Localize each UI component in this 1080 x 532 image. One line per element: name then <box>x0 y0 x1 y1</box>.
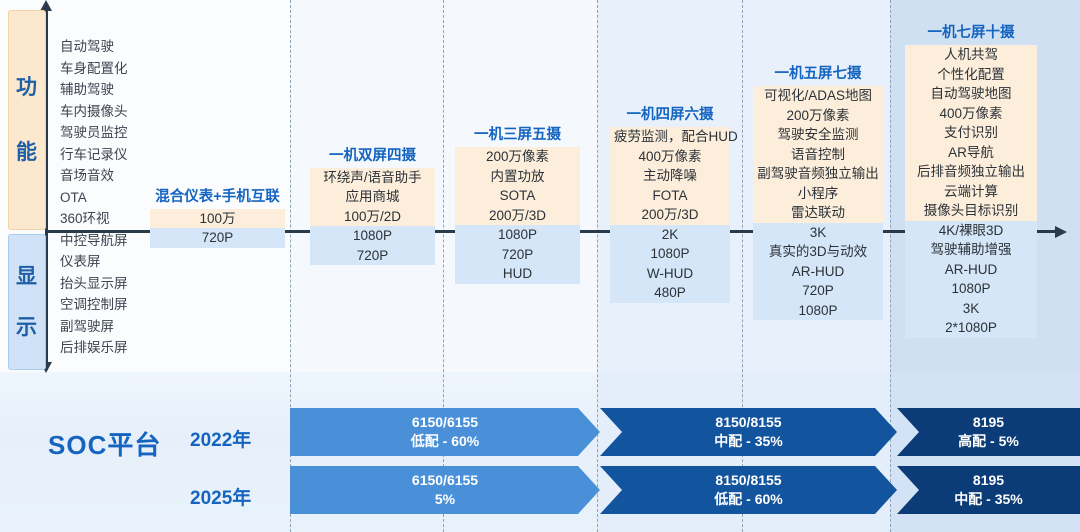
spec-group-title: 混合仪表+手机互联 <box>150 185 285 206</box>
category-chip-function: 功 能 <box>8 10 46 230</box>
function-item: 后排音频独立输出 <box>905 162 1037 182</box>
row-label: 仪表屏 <box>60 251 160 273</box>
infographic-root: 功 能 显 示 自动驾驶车身配置化辅助驾驶车内摄像头驾驶员监控行车记录仪音场音效… <box>0 0 1080 532</box>
display-item: W-HUD <box>610 264 730 284</box>
display-block: 2K1080PW-HUD480P <box>610 225 730 303</box>
soc-segment[interactable]: 8195中配 - 35% <box>897 466 1080 514</box>
function-item: 疲劳监测，配合HUD <box>610 127 730 147</box>
soc-tier-label: 高配 - 5% <box>958 433 1019 451</box>
soc-chip-label: 6150/6155 <box>412 414 478 432</box>
soc-chip-label: 8150/8155 <box>715 414 781 432</box>
horizontal-axis-arrow-icon <box>1055 226 1067 238</box>
soc-chip-label: 6150/6155 <box>412 472 478 490</box>
soc-year-2022: 2022年 <box>190 425 251 452</box>
soc-segment[interactable]: 6150/6155低配 - 60% <box>290 408 600 456</box>
display-block: 1080P720P <box>310 226 435 265</box>
display-item: 4K/裸眼3D <box>905 221 1037 241</box>
row-label-list: 自动驾驶车身配置化辅助驾驶车内摄像头驾驶员监控行车记录仪音场音效OTA360环视… <box>60 36 160 359</box>
function-item: 人机共驾 <box>905 45 1037 65</box>
category-display-char1: 显 <box>16 266 38 287</box>
function-block: 100万 <box>150 209 285 229</box>
spec-group-2: 一机双屏四摄环绕声/语音助手应用商城100万/2D1080P720P <box>310 144 435 266</box>
category-chip-display: 显 示 <box>8 234 46 370</box>
function-item: 驾驶安全监测 <box>753 125 883 145</box>
display-item: 1080P <box>610 244 730 264</box>
display-block: 720P <box>150 228 285 248</box>
function-item: 环绕声/语音助手 <box>310 168 435 188</box>
function-item: 200万像素 <box>753 106 883 126</box>
spec-group-6: 一机七屏十摄人机共驾个性化配置自动驾驶地图400万像素支付识别AR导航后排音频独… <box>905 21 1037 338</box>
function-item: SOTA <box>455 186 580 206</box>
display-item: 3K <box>905 299 1037 319</box>
function-item: 100万/2D <box>310 207 435 227</box>
display-item: 720P <box>310 246 435 266</box>
category-function-char2: 能 <box>16 142 38 163</box>
display-item: AR-HUD <box>753 262 883 282</box>
row-label: 辅助驾驶 <box>60 79 160 101</box>
display-item: 720P <box>753 281 883 301</box>
row-label: 车身配置化 <box>60 58 160 80</box>
display-block: 4K/裸眼3D驾驶辅助增强AR-HUD1080P3K2*1080P <box>905 221 1037 338</box>
row-label: 自动驾驶 <box>60 36 160 58</box>
function-item: 语音控制 <box>753 145 883 165</box>
function-block: 人机共驾个性化配置自动驾驶地图400万像素支付识别AR导航后排音频独立输出云端计… <box>905 45 1037 221</box>
spec-group-3: 一机三屏五摄200万像素内置功放SOTA200万/3D1080P720PHUD <box>455 123 580 284</box>
spec-group-1: 混合仪表+手机互联100万720P <box>150 185 285 248</box>
spec-group-title: 一机七屏十摄 <box>905 21 1037 42</box>
function-item: 小程序 <box>753 184 883 204</box>
category-display-char2: 示 <box>16 317 38 338</box>
display-item: 1080P <box>455 225 580 245</box>
row-label: 车内摄像头 <box>60 101 160 123</box>
row-label: 副驾驶屏 <box>60 316 160 338</box>
row-label: 音场音效 <box>60 165 160 187</box>
soc-segment[interactable]: 8195高配 - 5% <box>897 408 1080 456</box>
function-item: 主动降噪 <box>610 166 730 186</box>
function-item: 200万/3D <box>610 205 730 225</box>
function-item: 副驾驶音频独立输出 <box>753 164 883 184</box>
display-item: 2*1080P <box>905 318 1037 338</box>
display-item: 驾驶辅助增强 <box>905 240 1037 260</box>
function-item: 自动驾驶地图 <box>905 84 1037 104</box>
function-item: 400万像素 <box>905 104 1037 124</box>
soc-segment[interactable]: 8150/8155中配 - 35% <box>600 408 897 456</box>
soc-platform-title: SOC平台 <box>48 425 161 462</box>
spec-group-title: 一机五屏七摄 <box>753 62 883 83</box>
function-item: 应用商城 <box>310 187 435 207</box>
display-item: 1080P <box>905 279 1037 299</box>
display-item: 720P <box>455 245 580 265</box>
function-item: 200万/3D <box>455 206 580 226</box>
display-item: 1080P <box>310 226 435 246</box>
display-item: AR-HUD <box>905 260 1037 280</box>
display-item: 720P <box>150 228 285 248</box>
soc-chip-label: 8195 <box>973 414 1004 432</box>
spec-group-4: 一机四屏六摄疲劳监测，配合HUD400万像素主动降噪FOTA200万/3D2K1… <box>610 103 730 303</box>
soc-tier-label: 中配 - 35% <box>714 433 782 451</box>
soc-chip-label: 8150/8155 <box>715 472 781 490</box>
display-block: 1080P720PHUD <box>455 225 580 284</box>
function-item: 200万像素 <box>455 147 580 167</box>
function-item: 支付识别 <box>905 123 1037 143</box>
soc-tier-label: 中配 - 35% <box>954 491 1022 509</box>
row-label: 行车记录仪 <box>60 144 160 166</box>
function-item: 雷达联动 <box>753 203 883 223</box>
function-block: 200万像素内置功放SOTA200万/3D <box>455 147 580 225</box>
function-item: AR导航 <box>905 143 1037 163</box>
spec-group-title: 一机三屏五摄 <box>455 123 580 144</box>
row-label: 中控导航屏 <box>60 230 160 252</box>
function-item: 100万 <box>150 209 285 229</box>
display-item: 1080P <box>753 301 883 321</box>
display-item: 真实的3D与动效 <box>753 242 883 262</box>
function-block: 可视化/ADAS地图200万像素驾驶安全监测语音控制副驾驶音频独立输出小程序雷达… <box>753 86 883 223</box>
display-item: 3K <box>753 223 883 243</box>
function-item: 云端计算 <box>905 182 1037 202</box>
soc-segment[interactable]: 8150/8155低配 - 60% <box>600 466 897 514</box>
function-item: 400万像素 <box>610 147 730 167</box>
divider-dashed-3 <box>597 0 598 532</box>
row-label: OTA <box>60 187 160 209</box>
row-label: 后排娱乐屏 <box>60 337 160 359</box>
function-item: 可视化/ADAS地图 <box>753 86 883 106</box>
soc-tier-label: 低配 - 60% <box>411 433 479 451</box>
soc-chip-label: 8195 <box>973 472 1004 490</box>
spec-group-5: 一机五屏七摄可视化/ADAS地图200万像素驾驶安全监测语音控制副驾驶音频独立输… <box>753 62 883 320</box>
spec-group-title: 一机双屏四摄 <box>310 144 435 165</box>
row-label: 空调控制屏 <box>60 294 160 316</box>
function-item: 个性化配置 <box>905 65 1037 85</box>
soc-tier-label: 5% <box>435 491 455 509</box>
function-block: 疲劳监测，配合HUD400万像素主动降噪FOTA200万/3D <box>610 127 730 225</box>
row-label: 360环视 <box>60 208 160 230</box>
display-block: 3K真实的3D与动效AR-HUD720P1080P <box>753 223 883 321</box>
spec-group-title: 一机四屏六摄 <box>610 103 730 124</box>
display-item: 2K <box>610 225 730 245</box>
divider-dashed-5 <box>890 0 891 532</box>
soc-tier-label: 低配 - 60% <box>714 491 782 509</box>
display-item: 480P <box>610 283 730 303</box>
function-item: FOTA <box>610 186 730 206</box>
display-item: HUD <box>455 264 580 284</box>
soc-segment[interactable]: 6150/61555% <box>290 466 600 514</box>
category-function-char1: 功 <box>16 77 38 98</box>
function-item: 内置功放 <box>455 167 580 187</box>
row-label: 驾驶员监控 <box>60 122 160 144</box>
soc-year-2025: 2025年 <box>190 483 251 510</box>
function-block: 环绕声/语音助手应用商城100万/2D <box>310 168 435 227</box>
row-label: 抬头显示屏 <box>60 273 160 295</box>
function-item: 摄像头目标识别 <box>905 201 1037 221</box>
